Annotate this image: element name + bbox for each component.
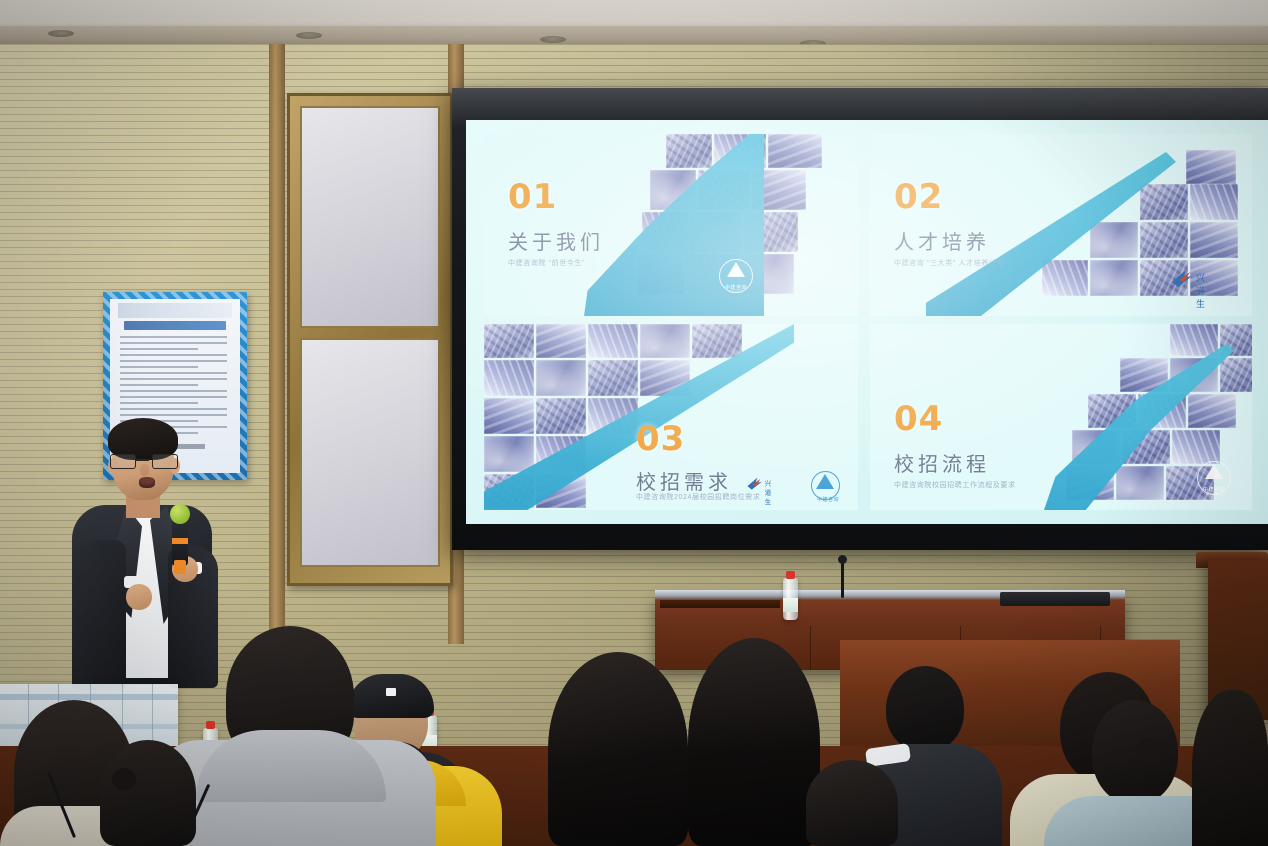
eyeglasses-icon [110, 454, 176, 467]
closed-laptop [1000, 592, 1110, 606]
zhongjian-logo-icon: 中建咨询 CSCEC [1194, 460, 1234, 500]
panel-subtitle: 中建咨询院2024届校园招聘岗位需求 [636, 492, 760, 502]
panel-subtitle: 中建咨询院 "前世今生" [508, 258, 585, 268]
zhongjian-logo-icon: 中建咨询 [808, 470, 842, 504]
downlight-icon [540, 36, 566, 43]
panel-number: 04 [894, 402, 943, 436]
microphone-foam-head [170, 504, 190, 524]
downlight-icon [48, 30, 74, 37]
panel-number: 01 [508, 180, 557, 214]
wall-pilaster [269, 44, 285, 664]
gooseneck-microphone-head [838, 555, 847, 564]
slide-panel-04: 中建咨询 CSCEC 04 校招流程 中建咨询院校园招聘工作流程及要求 [870, 324, 1252, 510]
projection-screen: 中建咨询 CSCEC 01 关于我们 中建咨询院 "前世今生" [466, 120, 1268, 524]
presenter-arm-left [72, 540, 126, 690]
bottle-cap [206, 721, 215, 729]
attendee-head [688, 638, 820, 846]
bottle-cap [786, 571, 795, 579]
panel-pane-top [300, 106, 440, 328]
lecture-hall-photo: 中建咨询 CSCEC 01 关于我们 中建咨询院 "前世今生" [0, 0, 1268, 846]
attendee-head [886, 666, 964, 752]
panel-number: 03 [636, 422, 685, 456]
panel-subtitle: 中建咨询院校园招聘工作流程及要求 [894, 480, 1016, 490]
panel-title: 校招需求 [636, 466, 732, 495]
attendee-head [1092, 700, 1178, 804]
slide-panel-01: 中建咨询 CSCEC 01 关于我们 中建咨询院 "前世今生" [484, 134, 858, 316]
poster-header-logo [118, 303, 232, 318]
panel-title: 人才培养 [894, 226, 990, 255]
attendee-head [1192, 690, 1268, 846]
panel-number: 02 [894, 180, 943, 214]
zhongjian-logo-icon: 中建咨询 CSCEC [716, 258, 756, 298]
attendee-head [806, 760, 898, 846]
downlight-icon [296, 32, 322, 39]
panel-subtitle: 中建咨询 "三大类" 人才培养计划 [894, 258, 1004, 268]
panel-title: 校招流程 [894, 448, 990, 477]
gooseneck-microphone [841, 560, 844, 598]
presenter-mouth [139, 477, 155, 488]
poster-title-bar [124, 321, 226, 330]
slide-panel-02: 兴道生 XING DAO SHENG 02 人才培养 中建咨询 "三大类" 人才… [870, 134, 1252, 316]
hair-bun-icon [1136, 738, 1164, 764]
slide-panel-03: 中建咨询 兴道生 03 校招需求 中建咨询院2024届校园招聘岗位需求 [484, 324, 858, 510]
bottle-label [783, 598, 798, 612]
presentation-slide: 中建咨询 CSCEC 01 关于我们 中建咨询院 "前世今生" [466, 120, 1268, 524]
panel-pane-bottom [300, 338, 440, 567]
wall-mounted-panel [287, 93, 453, 586]
water-bottle [783, 578, 798, 620]
hair-tie-icon [112, 768, 136, 790]
presenter-hand [126, 584, 152, 610]
cap-logo [386, 688, 396, 696]
microphone-accent-ring [172, 538, 188, 544]
attendee-head [100, 740, 196, 846]
attendee-head [548, 652, 688, 846]
panel-title: 关于我们 [508, 226, 604, 255]
stage-table-edge [660, 600, 780, 608]
microphone-accent-grip [174, 560, 186, 574]
